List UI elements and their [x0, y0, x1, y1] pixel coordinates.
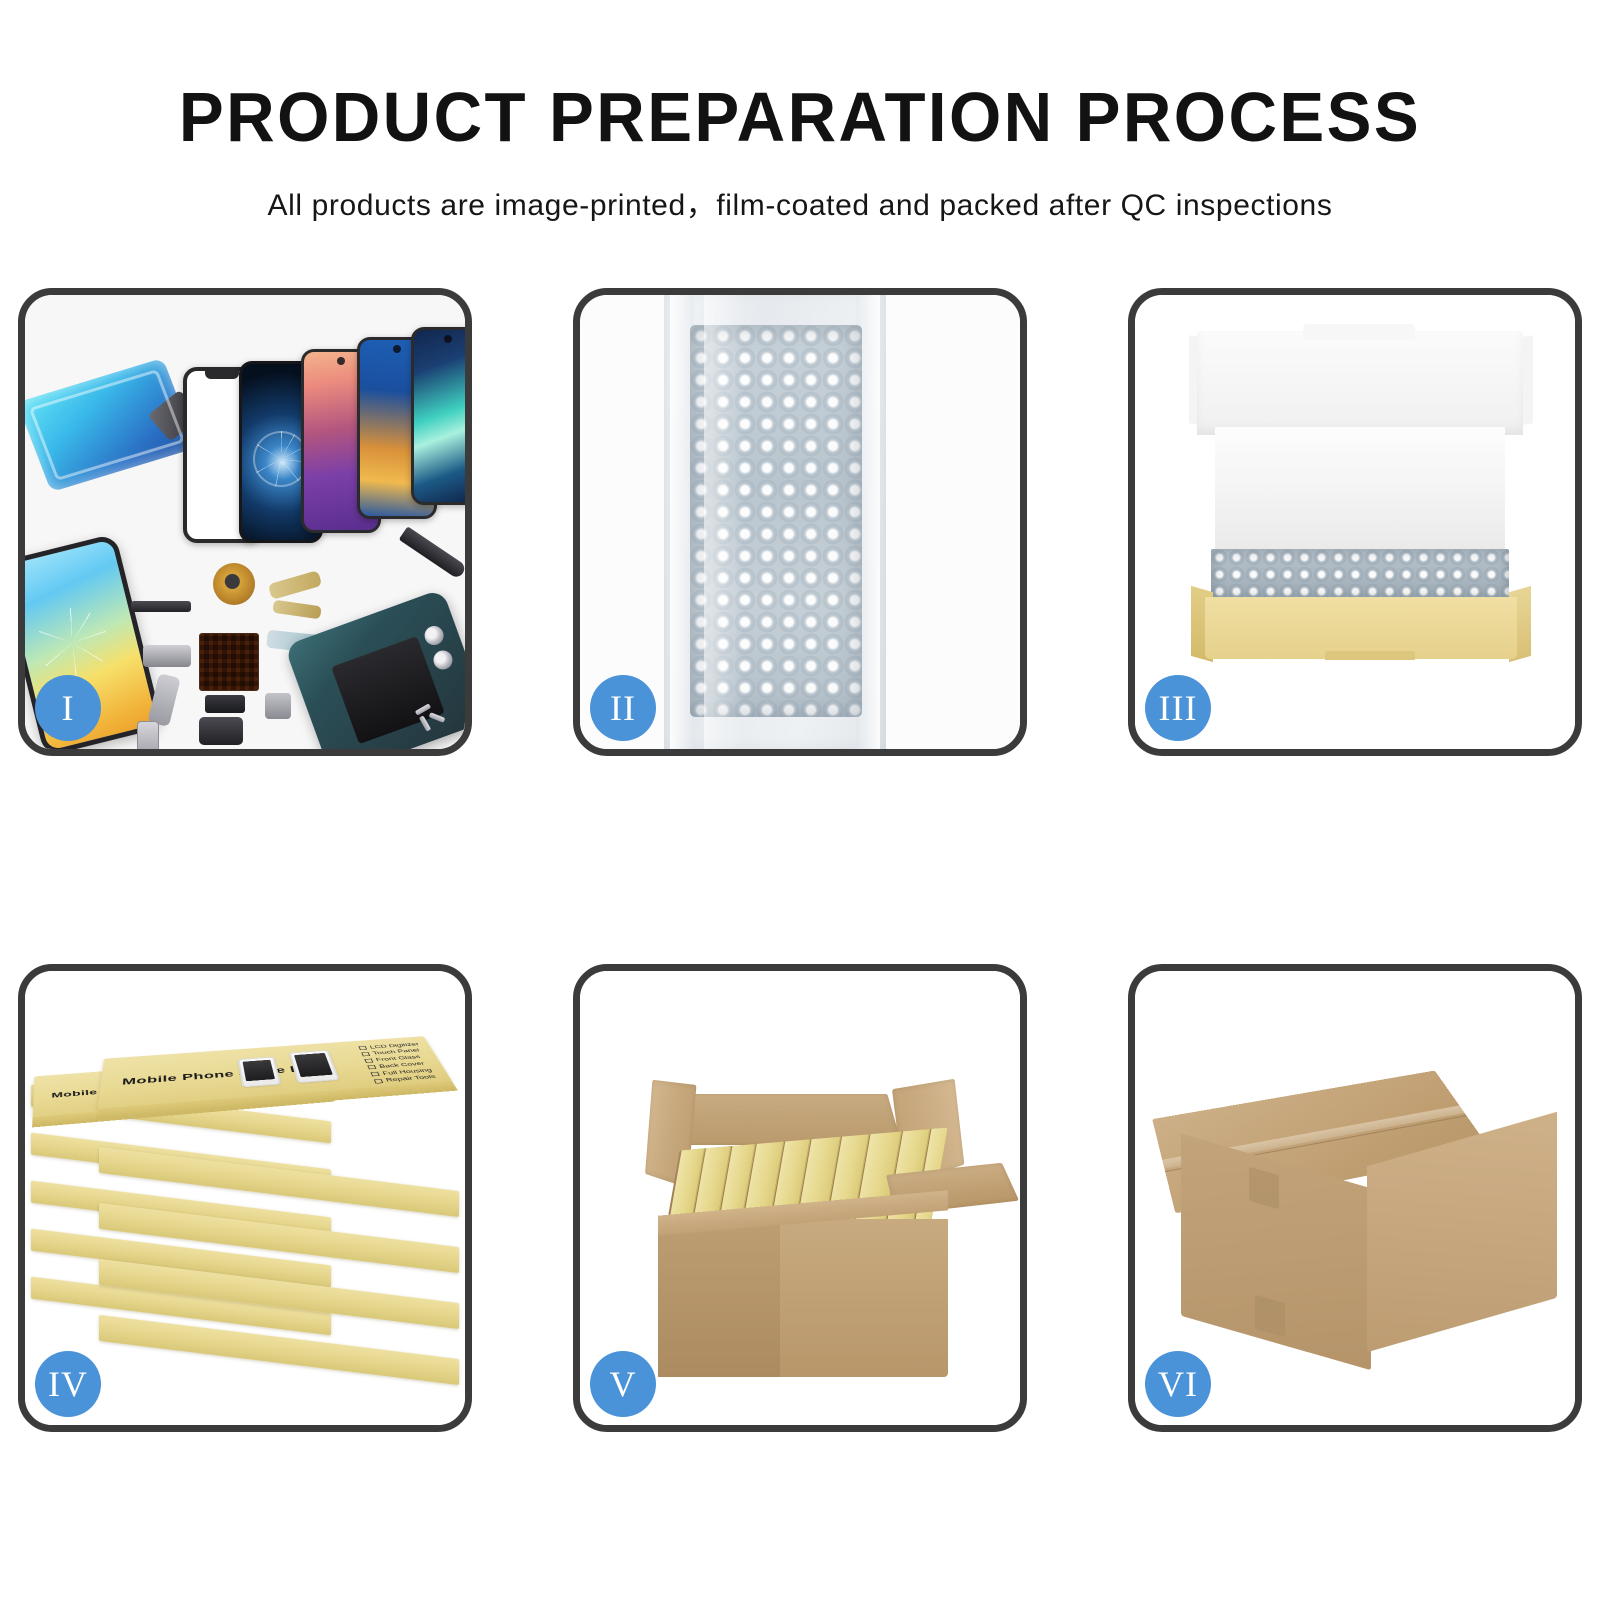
- step-badge-3: III: [1145, 675, 1211, 741]
- step-panel-5[interactable]: V: [573, 964, 1027, 1432]
- teal-display-graphic: [411, 327, 465, 505]
- retail-box-checklist: LCD Digitizer Touch Panel Front Glass Ba…: [358, 1041, 441, 1085]
- step-badge-2: II: [590, 675, 656, 741]
- step-panel-1[interactable]: I: [18, 288, 472, 756]
- checkbox-icon: [371, 1072, 380, 1077]
- flex-cable-graphic: [147, 673, 180, 727]
- vibrator-motor-graphic: [265, 693, 291, 719]
- carton-body: [658, 1219, 948, 1377]
- header: PRODUCT PREPARATION PROCESS All products…: [0, 0, 1600, 224]
- step-image-2: [580, 295, 1020, 749]
- open-shipping-carton-graphic: [610, 1029, 1000, 1379]
- process-row-bottom: Mobile Phone Spare Parts LCD Digitizer T…: [18, 964, 1582, 1432]
- step-image-3: [1135, 295, 1575, 749]
- earpiece-speaker-graphic: [131, 601, 191, 612]
- step-badge-4: IV: [35, 1351, 101, 1417]
- screen-fan-group: [177, 325, 465, 525]
- camera-dot-icon: [444, 335, 452, 343]
- checkbox-icon: [364, 1058, 373, 1062]
- box-front-panel: [1205, 597, 1517, 659]
- sealed-carton-graphic: [1157, 1011, 1567, 1371]
- screws-graphic: [415, 705, 455, 731]
- box-inner-wall: [1215, 427, 1505, 555]
- step-panel-2[interactable]: II: [573, 288, 1027, 756]
- retail-box-stack-graphic: Mobile Phone Spare Parts LCD Digitizer T…: [29, 999, 465, 1419]
- bubble-wrap-bag-graphic: [664, 295, 886, 749]
- loudspeaker-graphic: [199, 717, 243, 745]
- checkbox-icon: [359, 1046, 368, 1050]
- flex-cable-graphic: [272, 600, 321, 620]
- box-phone-image: [289, 1050, 340, 1083]
- flex-cable-graphic: [268, 570, 322, 600]
- step-image-6: [1135, 971, 1575, 1425]
- camera-dot-icon: [337, 357, 345, 365]
- ic-chip-graphic: [199, 633, 259, 691]
- step-badge-6: VI: [1145, 1351, 1211, 1417]
- step-badge-1: I: [35, 675, 101, 741]
- page-subtitle: All products are image-printed，film-coat…: [0, 152, 1600, 224]
- box-phone-image: [238, 1057, 282, 1088]
- sim-tray-graphic: [137, 721, 159, 749]
- box-lid-panel: [1197, 331, 1523, 435]
- checkbox-icon: [362, 1052, 371, 1056]
- page-title: PRODUCT PREPARATION PROCESS: [32, 0, 1568, 152]
- box-lid-tab: [1303, 324, 1415, 340]
- component-graphic: [205, 695, 245, 713]
- box-side-face: [96, 1081, 458, 1120]
- wireless-charging-coil-graphic: [213, 563, 255, 605]
- step-panel-3[interactable]: III: [1128, 288, 1582, 756]
- open-mailer-box-graphic: [1187, 331, 1535, 711]
- step-image-1: [25, 295, 465, 749]
- process-row-top: I II: [18, 288, 1582, 756]
- bag-gloss-highlight: [704, 295, 744, 749]
- camera-lens-icon: [422, 623, 446, 647]
- step-image-5: [580, 971, 1020, 1425]
- step-panel-6[interactable]: VI: [1128, 964, 1582, 1432]
- checkbox-icon: [374, 1079, 384, 1084]
- step-image-4: Mobile Phone Spare Parts LCD Digitizer T…: [25, 971, 465, 1425]
- bubble-wrapped-contents: [1211, 549, 1509, 599]
- camera-module-graphic: [143, 645, 191, 667]
- camera-lens-icon: [431, 648, 455, 672]
- camera-dot-icon: [393, 345, 401, 353]
- step-panel-4[interactable]: Mobile Phone Spare Parts LCD Digitizer T…: [18, 964, 472, 1432]
- step-badge-5: V: [590, 1351, 656, 1417]
- process-step-grid: I II: [18, 288, 1582, 1432]
- retail-box-labelled: Mobile Phone Spare Parts LCD Digitizer T…: [97, 1036, 452, 1109]
- checkbox-icon: [368, 1065, 377, 1069]
